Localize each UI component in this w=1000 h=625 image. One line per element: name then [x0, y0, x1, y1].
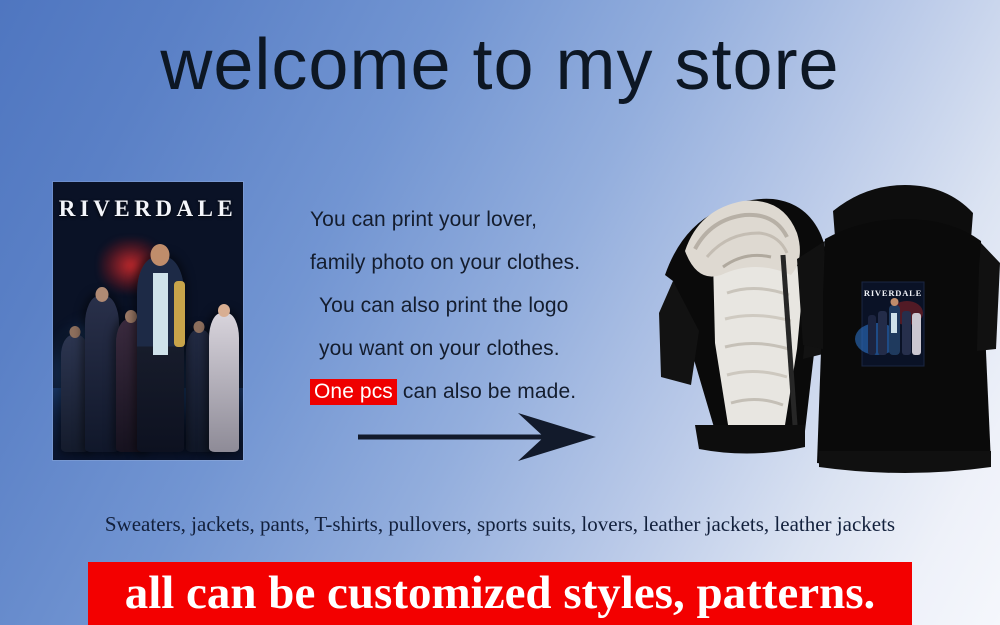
copy-line-1: You can print your lover,	[310, 198, 670, 241]
copy-line-5: One pcs can also be made.	[310, 370, 670, 413]
poster-figure-head	[69, 326, 80, 338]
poster-figure	[209, 313, 239, 452]
poster-lead-head	[151, 244, 170, 266]
hoodie-print-title: RIVERDALE	[864, 288, 922, 298]
poster-lead-figure	[137, 257, 185, 452]
poster-title-text: RIVERDALE	[53, 196, 243, 222]
copy-line-4: you want on your clothes.	[310, 327, 670, 370]
poster-figure-head	[96, 287, 109, 302]
right-hoodie-back: RIVERDALE	[797, 185, 1000, 473]
hoodie-riverdale-print: RIVERDALE	[855, 282, 924, 366]
copy-line-5-rest: can also be made.	[397, 380, 576, 403]
poster-figure-head	[218, 304, 230, 317]
description-text-block: You can print your lover, family photo o…	[310, 198, 670, 413]
page-title: welcome to my store	[0, 28, 1000, 104]
one-pcs-highlight: One pcs	[310, 379, 397, 405]
customization-banner: all can be customized styles, patterns.	[88, 562, 912, 625]
poster-lead-sleeve	[174, 281, 184, 347]
copy-line-2: family photo on your clothes.	[310, 241, 670, 284]
product-list-line: Sweaters, jackets, pants, T-shirts, pull…	[0, 512, 1000, 537]
riverdale-poster-image: RIVERDALE	[53, 182, 243, 460]
right-arrow-icon	[358, 408, 596, 466]
poster-figure-head	[125, 310, 137, 323]
poster-figure	[85, 296, 119, 452]
copy-line-3: You can also print the logo	[310, 284, 670, 327]
poster-lead-shirt	[153, 273, 168, 355]
hoodie-product-image: RIVERDALE	[655, 163, 1000, 493]
poster-figure-head	[194, 321, 205, 333]
customization-banner-text: all can be customized styles, patterns.	[88, 564, 912, 622]
store-promo-banner: welcome to my store RIVERDALE	[0, 0, 1000, 625]
